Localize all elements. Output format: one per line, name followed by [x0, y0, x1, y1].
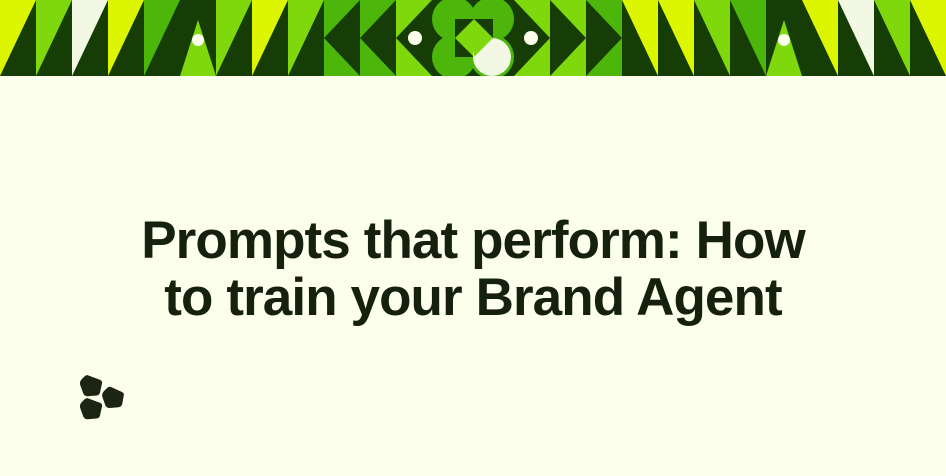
left-chevron-group — [324, 0, 432, 76]
right-chevron-group — [514, 0, 622, 76]
page-title-line-1: Prompts that perform: How — [0, 212, 946, 269]
brand-logo[interactable] — [76, 371, 128, 423]
banner-pattern-svg — [0, 0, 946, 76]
page-title-line-2: to train your Brand Agent — [0, 269, 946, 326]
left-triangle-field — [0, 0, 324, 76]
geometric-pattern-banner — [0, 0, 946, 76]
title-card: Prompts that perform: How to train your … — [0, 0, 946, 476]
page-title: Prompts that perform: How to train your … — [0, 212, 946, 326]
center-clover-emblem — [432, 0, 514, 76]
brand-logo-icon — [76, 371, 128, 423]
right-triangle-field — [622, 0, 946, 76]
